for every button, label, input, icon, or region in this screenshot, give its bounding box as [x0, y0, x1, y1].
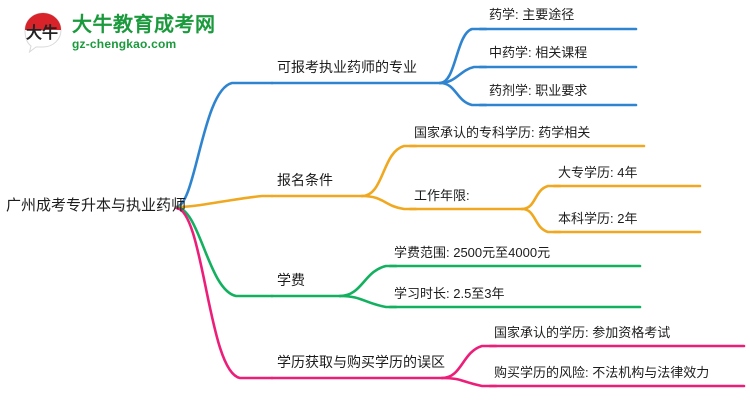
logo-subtitle: gz-chengkao.com [72, 38, 216, 50]
connector-root-to-branch-3 [176, 207, 272, 296]
mindmap-branch-3-child-2[interactable]: 学习时长: 2.5至3年 [394, 287, 505, 301]
mindmap-branch-3-child-1[interactable]: 学费范围: 2500元至4000元 [394, 246, 550, 260]
connector-root-to-branch-4 [176, 208, 272, 378]
mindmap-branch-4[interactable]: 学历获取与购买学历的误区 [277, 355, 445, 370]
site-logo: 大牛 大牛教育成考网 gz-chengkao.com [22, 8, 222, 56]
connector-b2c2-child-1 [522, 186, 560, 209]
connector-b2c2-child-2 [522, 209, 560, 232]
connector-branch-4-child-2 [442, 378, 496, 386]
mindmap-root-node[interactable]: 广州成考专升本与执业药师 [6, 198, 186, 215]
logo-title: 大牛教育成考网 [72, 15, 216, 35]
mindmap-branch-2-child-2-sub-1[interactable]: 大专学历: 4年 [558, 166, 637, 180]
mindmap-branch-2-child-1[interactable]: 国家承认的专科学历: 药学相关 [414, 126, 590, 140]
connector-branch-1-child-3 [440, 83, 486, 105]
svg-text:大牛: 大牛 [26, 23, 58, 42]
connector-branch-3-child-1 [340, 266, 396, 296]
connector-branch-2-child-1 [362, 146, 416, 196]
mindmap-branch-1[interactable]: 可报考执业药师的专业 [277, 60, 417, 75]
mindmap-branch-1-child-1[interactable]: 药学: 主要途径 [489, 8, 574, 22]
connector-root-to-branch-1 [176, 83, 272, 207]
connector-branch-3-child-2 [340, 296, 396, 307]
connector-branch-4-child-1 [442, 346, 496, 378]
connector-branch-1-child-1 [440, 29, 486, 83]
connector-branch-2-child-2 [362, 196, 416, 209]
mindmap-branch-4-child-2[interactable]: 购买学历的风险: 不法机构与法律效力 [494, 366, 709, 380]
mindmap-branch-1-child-3[interactable]: 药剂学: 职业要求 [489, 84, 587, 98]
mindmap-branch-2[interactable]: 报名条件 [277, 173, 333, 188]
mindmap-branch-4-child-1[interactable]: 国家承认的学历: 参加资格考试 [494, 326, 670, 340]
mindmap-branch-2-child-2-sub-2[interactable]: 本科学历: 2年 [558, 212, 637, 226]
mindmap-branch-2-child-2[interactable]: 工作年限: [414, 189, 470, 203]
mindmap-branch-3[interactable]: 学费 [277, 273, 305, 288]
connector-root-to-branch-2 [176, 196, 272, 207]
logo-badge-icon: 大牛 [22, 11, 64, 53]
mindmap-branch-1-child-2[interactable]: 中药学: 相关课程 [489, 46, 587, 60]
mindmap-canvas: 大牛 大牛教育成考网 gz-chengkao.com 广州成考专升本与执业药师 … [0, 0, 750, 410]
